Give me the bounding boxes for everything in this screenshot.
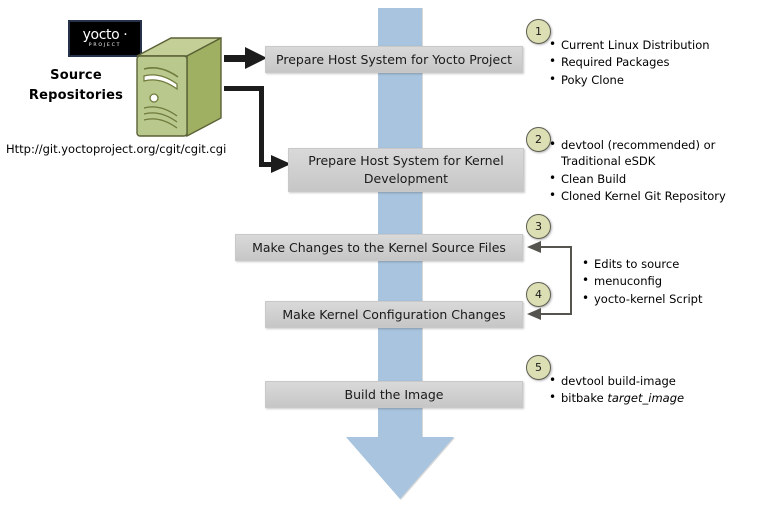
note-text: bitbake — [561, 391, 607, 405]
step-badge-1: 1 — [526, 19, 551, 44]
step-badge-2: 2 — [526, 127, 551, 152]
process-box-label: Build the Image — [345, 386, 444, 404]
process-box-label: Prepare Host System for Kernel Developme… — [297, 152, 515, 188]
arrowhead-to-step4-icon — [527, 308, 541, 320]
note-item: menuconfig — [582, 273, 703, 289]
connector-server-to-step2-vertical — [259, 86, 264, 166]
note-item: Cloned Kernel Git Repository — [549, 188, 761, 204]
note-item: Poky Clone — [549, 72, 710, 88]
note-item: devtool (recommended) or Traditional eSD… — [549, 137, 761, 170]
step-badge-4: 4 — [526, 282, 551, 307]
process-box-prepare-host-kernel[interactable]: Prepare Host System for Kernel Developme… — [288, 148, 524, 192]
yocto-project-logo: yocto · PROJECT — [68, 20, 142, 57]
note-text-italic: target_image — [607, 391, 684, 405]
server-tower-icon — [133, 36, 225, 142]
source-title-line-1: Source — [18, 66, 134, 86]
source-repositories-url: Http://git.yoctoproject.org/cgit/cgit.cg… — [6, 142, 226, 156]
step-number: 3 — [535, 220, 542, 233]
process-box-make-kernel-config-changes[interactable]: Make Kernel Configuration Changes — [265, 301, 523, 328]
connector-server-to-step2-h1 — [224, 86, 264, 91]
feedback-connector-top — [541, 246, 572, 248]
process-box-prepare-host-yocto[interactable]: Prepare Host System for Yocto Project — [265, 46, 523, 73]
note-item: Current Linux Distribution — [549, 37, 710, 53]
step-number: 4 — [535, 288, 542, 301]
step-badge-3: 3 — [526, 214, 551, 239]
note-item: yocto-kernel Script — [582, 291, 703, 307]
step-number: 2 — [535, 133, 542, 146]
note-item: devtool build-image — [549, 373, 684, 389]
process-box-label: Prepare Host System for Yocto Project — [276, 51, 512, 69]
notes-step-2: devtool (recommended) or Traditional eSD… — [549, 137, 761, 205]
notes-step-1: Current Linux Distribution Required Pack… — [549, 37, 710, 89]
process-box-label: Make Kernel Configuration Changes — [282, 306, 505, 324]
note-item: Required Packages — [549, 54, 710, 70]
process-box-label: Make Changes to the Kernel Source Files — [252, 239, 506, 257]
arrowhead-to-step3-icon — [527, 241, 541, 253]
note-item: Edits to source — [582, 256, 703, 272]
feedback-connector-vertical — [570, 246, 572, 315]
source-repositories-title: Source Repositories — [18, 66, 134, 106]
process-box-make-changes-kernel-source[interactable]: Make Changes to the Kernel Source Files — [235, 234, 523, 261]
note-item: bitbake target_image — [549, 390, 684, 406]
process-box-build-the-image[interactable]: Build the Image — [265, 381, 523, 408]
step-number: 1 — [535, 25, 542, 38]
step-number: 5 — [535, 361, 542, 374]
logo-main-text: yocto · — [83, 28, 128, 42]
source-title-line-2: Repositories — [18, 86, 134, 106]
note-text: devtool build-image — [561, 374, 676, 388]
logo-sub-text: PROJECT — [89, 44, 121, 49]
step-badge-5: 5 — [526, 355, 551, 380]
notes-steps-3-and-4: Edits to source menuconfig yocto-kernel … — [582, 256, 703, 308]
diagram-canvas: yocto · PROJECT Source Repositories Http… — [0, 0, 769, 517]
notes-step-5: devtool build-image bitbake target_image — [549, 373, 684, 408]
feedback-connector-bottom — [541, 313, 572, 315]
arrowhead-to-step1-icon — [245, 47, 267, 69]
flow-arrow-head-icon — [346, 437, 454, 499]
note-item: Clean Build — [549, 171, 761, 187]
